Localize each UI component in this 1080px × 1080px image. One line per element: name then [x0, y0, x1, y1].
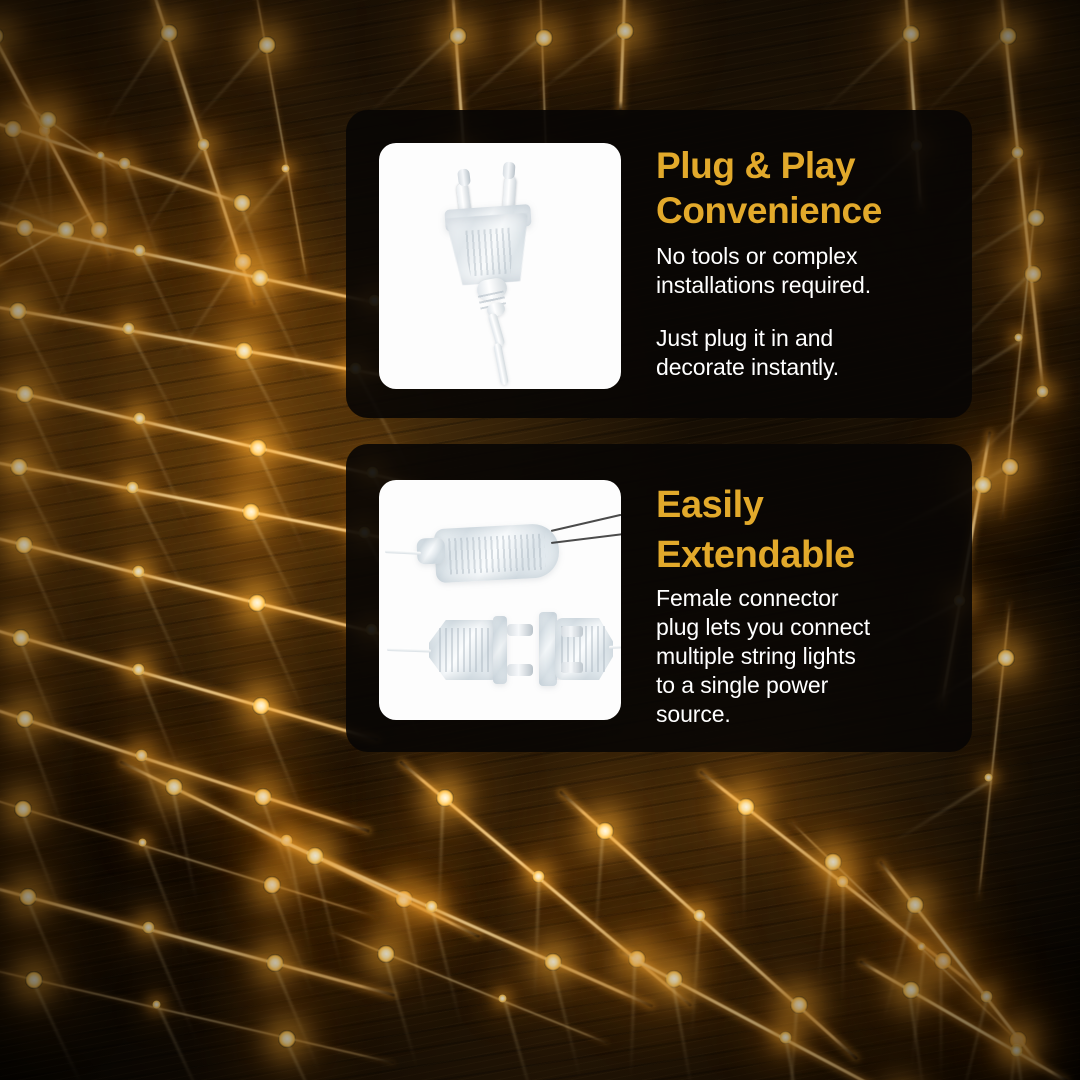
plug-pin-right-cap — [502, 162, 515, 180]
inline-connector-left-neck — [416, 537, 445, 564]
female-connector-face — [539, 612, 557, 686]
connector-lead-black-bottom — [551, 533, 621, 544]
plug-cable-2 — [493, 343, 509, 386]
card-plug-paragraph-2: Just plug it in and decorate instantly. — [656, 324, 958, 382]
card-plug-headline: Plug & Play Convenience — [656, 143, 958, 233]
male-plug-pin-top — [507, 624, 533, 636]
card-extendable-headline: Easily Extendable — [656, 480, 958, 580]
male-plug-pin-bottom — [507, 664, 533, 676]
connector-lead-white-left — [385, 550, 421, 555]
card-plug-copy: Plug & Play Convenience No tools or comp… — [621, 143, 972, 382]
feature-card-plug-and-play[interactable]: Plug & Play Convenience No tools or comp… — [346, 110, 972, 418]
female-socket-slot-bottom — [561, 662, 583, 673]
feature-graphic: Plug & Play Convenience No tools or comp… — [0, 0, 1080, 1080]
male-plug-ribs — [439, 628, 489, 672]
female-socket-slot-top — [561, 626, 583, 637]
feature-card-easily-extendable[interactable]: Easily Extendable Female connector plug … — [346, 444, 972, 752]
inline-connector-ribs — [448, 534, 546, 575]
plug-pin-left-cap — [457, 168, 471, 186]
card-extendable-copy: Easily Extendable Female connector plug … — [621, 480, 972, 729]
product-image-connector — [379, 480, 621, 720]
female-connector-lead — [609, 645, 621, 649]
male-plug-lead — [387, 648, 431, 653]
male-plug-face — [493, 616, 507, 684]
connector-lead-black-top — [551, 514, 621, 532]
card-extendable-paragraph-1: Female connector plug lets you connect m… — [656, 584, 958, 729]
product-image-plug — [379, 143, 621, 389]
connector-illustration — [379, 480, 621, 720]
card-plug-paragraph-1: No tools or complex installations requir… — [656, 242, 958, 300]
eu-plug-illustration — [379, 143, 621, 389]
